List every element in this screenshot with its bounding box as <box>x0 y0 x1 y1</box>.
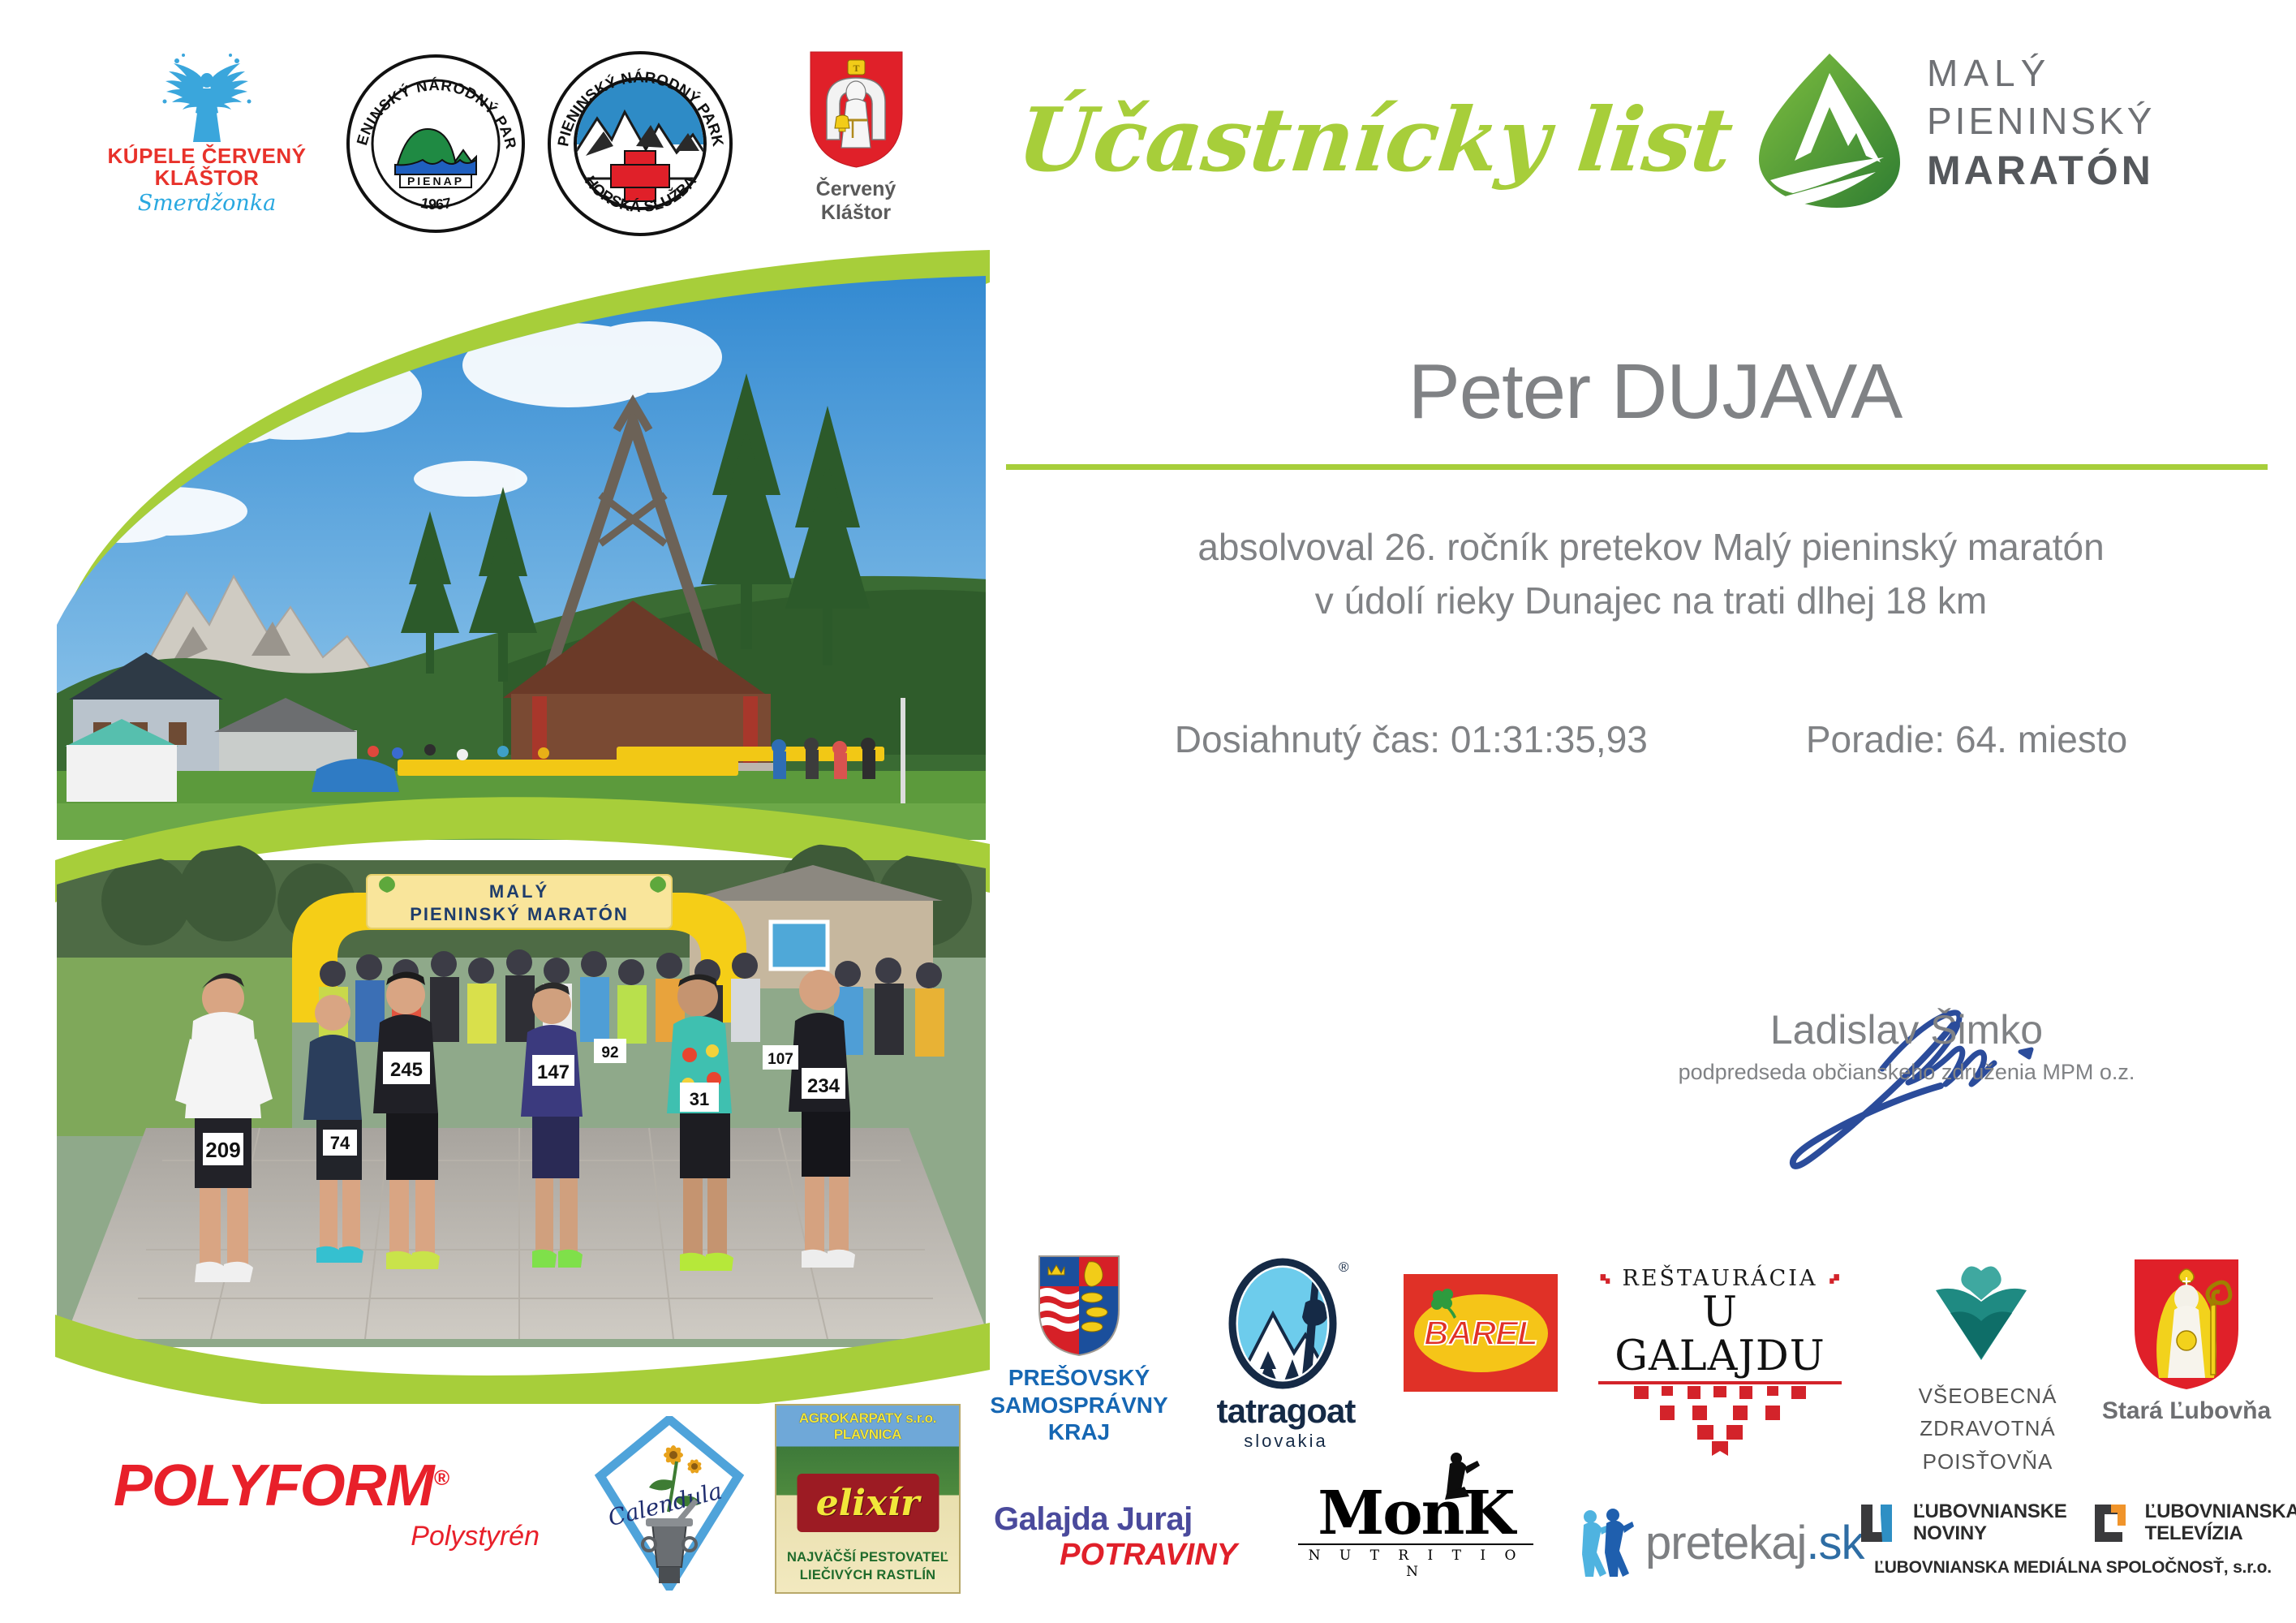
sponsor-psk-line3: KRAJ <box>986 1419 1172 1446</box>
sponsor-galajda-juraj: Galajda Juraj POTRAVINY <box>994 1501 1237 1573</box>
sponsor-monk-subtitle: N U T R I T I O N <box>1298 1543 1533 1580</box>
sponsors-left: POLYFORM® Polystyrén <box>97 1416 990 1603</box>
sponsor-polyform: POLYFORM® Polystyrén <box>114 1453 568 1552</box>
photo-race-start: MALÝ PIENINSKÝ MARATÓN <box>49 844 990 1347</box>
sponsor-tatragoat: ® tatragoat slovakia <box>1193 1254 1379 1452</box>
svg-text:31: 31 <box>690 1089 709 1109</box>
svg-text:®: ® <box>1339 1259 1349 1275</box>
psk-coat-of-arms <box>1037 1254 1121 1358</box>
sponsor-ln-line2: NOVINY <box>1913 1523 2067 1545</box>
sponsor-vszp-line3: POISŤOVŇA <box>1898 1445 2077 1478</box>
sponsor-stara-lubovna-caption: Stará Ľubovňa <box>2101 1397 2272 1425</box>
sponsor-stara-lubovna: Stará Ľubovňa <box>2101 1256 2272 1425</box>
clover-icon <box>1427 1286 1460 1319</box>
flower-mortar-hexagon-logo: Calendula <box>592 1416 746 1591</box>
sponsor-barel-title: BAREL <box>1424 1314 1537 1353</box>
sponsor-lms-footer: ĽUBOVNIANSKA MEDIÁLNA SPOLOČNOSŤ, s.r.o. <box>1858 1558 2288 1578</box>
sponsor-ln-line1: ĽUBOVNIANSKE <box>1913 1501 2067 1523</box>
header-partner-logos: KÚPELE ČERVENÝ KLÁŠTOR Smerdžonka PIENAP… <box>0 0 974 243</box>
svg-text:PIENAP: PIENAP <box>407 174 464 187</box>
sponsor-elixir-badge: elixír <box>797 1474 939 1532</box>
lubovnianske-noviny-icon <box>1858 1501 1905 1545</box>
sponsor-pretekaj-sk[interactable]: pretekaj.sk <box>1574 1505 1864 1580</box>
sponsor-polyform-subtitle: Polystyrén <box>114 1521 568 1552</box>
sponsor-pretekaj-title: pretekaj <box>1645 1517 1806 1569</box>
sponsor-elixir-word: elixír <box>816 1483 920 1524</box>
sponsor-ugalajdu-line2: U GALAJDU <box>1598 1291 1842 1378</box>
sponsor-monk-nutrition: MonK N U T R I T I O N <box>1298 1485 1533 1580</box>
two-runners-icon <box>1574 1505 1636 1580</box>
sponsor-elixir-bottom-1: NAJVÄČŠÍ PESTOVATEĽ <box>776 1549 959 1566</box>
teal-chevron-heart-icon <box>1931 1266 2044 1371</box>
arch-text-line2: PIENINSKÝ MARATÓN <box>410 904 629 924</box>
sponsor-psk-line2: SAMOSPRÁVNY <box>986 1392 1172 1419</box>
pienap-seal-icon: PIENAP PIENINSKÝ NÁRODNÝ PARK 1967 <box>345 53 527 235</box>
sponsor-elixir-top: AGROKARPATY s.r.o. PLAVNICA <box>776 1406 959 1443</box>
svg-text:74: 74 <box>330 1133 350 1153</box>
sponsor-lt-line1: ĽUBOVNIANSKA <box>2145 1501 2296 1523</box>
sponsor-vszp: VŠEOBECNÁ ZDRAVOTNÁ POISŤOVŇA <box>1898 1266 2077 1478</box>
signatory-role: podpredseda občianskeho združenia MPM o.… <box>1639 1060 2174 1085</box>
red-shield-monk-coat-of-arms: T <box>806 49 907 170</box>
signature-block: Ladislav Šimko podpredseda občianskeho z… <box>1639 1006 2174 1085</box>
photo-collage: MALÝ PIENINSKÝ MARATÓN <box>49 243 990 1404</box>
sponsor-pretekaj-tld: .sk <box>1806 1517 1864 1569</box>
sponsor-agrokarpaty-elixir: AGROKARPATY s.r.o. PLAVNICA elixír NAJVÄ… <box>775 1404 961 1594</box>
description-line-2: v údolí rieky Dunajec na trati dlhej 18 … <box>1030 574 2272 628</box>
green-mountain-leaf-logo <box>1752 49 1907 211</box>
participant-name: Peter DUJAVA <box>1006 349 2272 435</box>
barel-badge: BAREL <box>1404 1274 1558 1392</box>
sponsor-calendula: Calendula <box>592 1416 746 1591</box>
logo-kck-line2: Smerdžonka <box>89 192 325 216</box>
logo-horska-sluzba: PIENINSKÝ NÁRODNÝ PARK HORSKÁ SLUŽBA <box>545 49 736 243</box>
logo-pieninsky-narodny-park: PIENAP PIENINSKÝ NÁRODNÝ PARK 1967 <box>345 53 527 239</box>
svg-text:92: 92 <box>601 1044 618 1061</box>
sponsor-galajda-line2: POTRAVINY <box>994 1538 1237 1573</box>
sponsor-tatragoat-subtitle: slovakia <box>1193 1431 1379 1452</box>
sponsor-vszp-line2: ZDRAVOTNÁ <box>1898 1412 2077 1444</box>
svg-text:147: 147 <box>537 1061 570 1083</box>
certificate-page: KÚPELE ČERVENÝ KLÁŠTOR Smerdžonka PIENAP… <box>0 0 2296 1623</box>
lubovnianska-televizia-icon <box>2092 1501 2137 1545</box>
sponsor-polyform-title: POLYFORM <box>114 1453 434 1518</box>
folk-ornament-icon-right <box>1825 1268 1842 1289</box>
svg-text:1967: 1967 <box>419 195 453 213</box>
sponsor-lubovnianska-medialna: ĽUBOVNIANSKE NOVINY ĽUBOVNIANSKA TELEVÍZ… <box>1858 1501 2288 1578</box>
folk-pattern <box>1606 1384 1834 1457</box>
folk-ornament-icon <box>1598 1268 1615 1289</box>
sponsor-vszp-line1: VŠEOBECNÁ <box>1898 1380 2077 1412</box>
signatory-name: Ladislav Šimko <box>1639 1006 2174 1053</box>
logo-kupele-cerveny-klastor: KÚPELE ČERVENÝ KLÁŠTOR Smerdžonka <box>89 45 325 215</box>
sponsor-u-galajdu: REŠTAURÁCIA U GALAJDU <box>1598 1266 1842 1457</box>
svg-text:T: T <box>853 62 859 74</box>
sponsor-tatragoat-title: tatragoat <box>1193 1392 1379 1431</box>
sponsor-galajda-line1: Galajda Juraj <box>994 1501 1237 1538</box>
accent-divider <box>1006 464 2268 470</box>
svg-text:209: 209 <box>205 1138 240 1162</box>
arch-text-line1: MALÝ <box>489 881 549 902</box>
brand-logo: MALÝ PIENINSKÝ MARATÓN <box>1752 45 2272 219</box>
result-time: Dosiahnutý čas: 01:31:35,93 <box>1175 717 1648 761</box>
sponsor-elixir-bottom-2: LIEČIVÝCH RASTLÍN <box>776 1567 959 1584</box>
horska-sluzba-seal-icon: PIENINSKÝ NÁRODNÝ PARK HORSKÁ SLUŽBA <box>545 49 736 239</box>
logo-obec-cerveny-klastor: T Červený Kláštor <box>779 49 933 225</box>
sponsor-polyform-tm: ® <box>434 1466 449 1490</box>
sponsor-monk-title: MonK <box>1298 1485 1533 1542</box>
logo-cerveny-klastor-caption: Červený Kláštor <box>779 178 933 225</box>
leaping-monk-silhouette <box>1432 1451 1489 1500</box>
sponsor-presovsky-samospravny-kraj: PREŠOVSKÝ SAMOSPRÁVNY KRAJ <box>986 1254 1172 1446</box>
brand-line-1: MALÝ <box>1927 50 2155 97</box>
sponsor-ugalajdu-line1: REŠTAURÁCIA <box>1623 1266 1818 1291</box>
description-line-1: absolvoval 26. ročník pretekov Malý pien… <box>1030 520 2272 575</box>
brand-line-3: MARATÓN <box>1927 145 2155 196</box>
result-place: Poradie: 64. miesto <box>1806 717 2127 761</box>
page-title: Účastnícky list <box>1013 89 1729 192</box>
brand-line-2: PIENINSKÝ <box>1927 97 2155 145</box>
certificate-body: Peter DUJAVA absolvoval 26. ročník prete… <box>1006 349 2272 761</box>
sponsor-psk-line1: PREŠOVSKÝ <box>986 1364 1172 1392</box>
svg-text:107: 107 <box>767 1051 793 1068</box>
bishop-coat-of-arms <box>2130 1256 2243 1393</box>
logo-kck-line1: KÚPELE ČERVENÝ KLÁŠTOR <box>89 145 325 190</box>
sponsor-lt-line2: TELEVÍZIA <box>2145 1523 2296 1545</box>
blue-angel-fountain-icon <box>114 45 300 142</box>
svg-text:234: 234 <box>807 1075 841 1097</box>
chamois-mountain-oval-logo: ® <box>1221 1254 1351 1390</box>
sponsor-barel: BAREL <box>1404 1274 1558 1392</box>
svg-text:245: 245 <box>390 1059 423 1081</box>
